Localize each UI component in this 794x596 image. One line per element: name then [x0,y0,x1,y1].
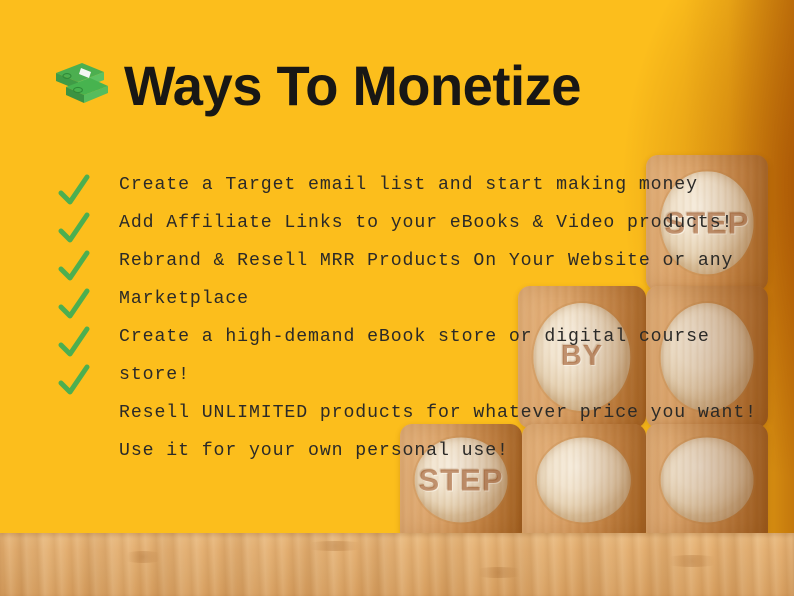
bullet-line: Create a Target email list and start mak… [119,166,787,204]
bullet-line: Use it for your own personal use! [119,432,787,470]
bullet-line: Add Affiliate Links to your eBooks & Vid… [119,204,787,242]
wooden-table-surface [0,533,794,596]
bullet-line: Create a high-demand eBook store or digi… [119,318,787,356]
wood-knot [120,551,166,563]
slide-canvas: STEP BY STEP [0,0,794,596]
bullet-line: Marketplace [119,280,787,318]
green-checkmark-icon [57,364,91,398]
wood-knot [660,555,724,567]
bullet-line: store! [119,356,787,394]
green-checkmark-icon [57,174,91,208]
green-checkmark-icon [57,288,91,322]
wood-knot [470,567,528,578]
green-checkmark-icon [57,250,91,284]
bullet-text-block: Create a Target email list and start mak… [119,166,787,470]
green-checkmark-icon [57,326,91,360]
money-banknotes-icon [48,59,110,113]
green-checkmark-icon [57,212,91,246]
bullet-line: Rebrand & Resell MRR Products On Your We… [119,242,787,280]
page-heading: Ways To Monetize [48,58,595,114]
wood-knot [300,541,370,551]
page-title: Ways To Monetize [124,58,581,114]
bullet-line: Resell UNLIMITED products for whatever p… [119,394,787,432]
